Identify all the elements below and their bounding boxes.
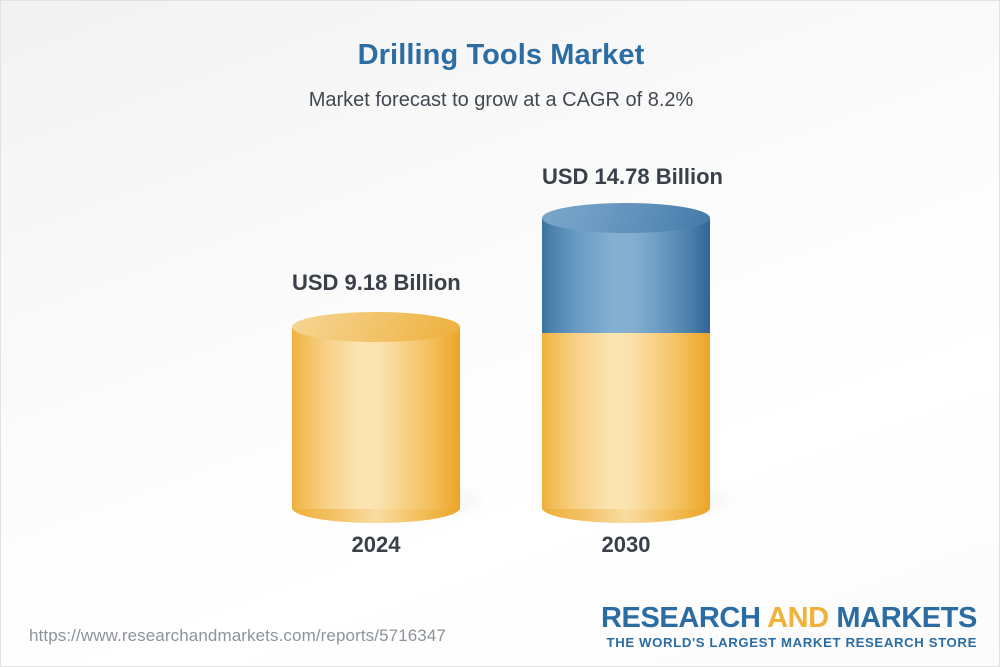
cylinder-segment-2030-growth [542,218,710,333]
cylinder-body-2024 [292,327,460,509]
logo-tagline: THE WORLD'S LARGEST MARKET RESEARCH STOR… [601,635,977,650]
cylinder-segment-2024-base [292,327,460,509]
category-label-2030: 2030 [542,532,710,558]
cylinder-body-2030-base [542,333,710,509]
logo-word-research: RESEARCH [601,602,761,634]
cylinder-body-2030-growth [542,218,710,333]
cylinder-top-cap-2030 [542,203,710,233]
chart-plot-area: USD 9.18 Billion 2024 USD 14.78 Billion [1,1,1000,601]
logo-wordmark: RESEARCH AND MARKETS [601,603,977,633]
value-label-2024: USD 9.18 Billion [292,270,460,296]
brand-logo[interactable]: RESEARCH AND MARKETS THE WORLD'S LARGEST… [601,603,977,650]
infographic-canvas: Drilling Tools Market Market forecast to… [0,0,1000,667]
logo-word-and: AND [767,602,829,634]
logo-word-markets: MARKETS [836,602,977,634]
cylinder-top-cap-2024 [292,312,460,342]
cylinder-segment-2030-base [542,333,710,509]
bar-group-2024: USD 9.18 Billion 2024 [292,1,460,601]
bar-group-2030: USD 14.78 Billion 2030 [542,1,710,601]
value-label-2030: USD 14.78 Billion [542,164,710,190]
source-url[interactable]: https://www.researchandmarkets.com/repor… [29,626,446,646]
category-label-2024: 2024 [292,532,460,558]
